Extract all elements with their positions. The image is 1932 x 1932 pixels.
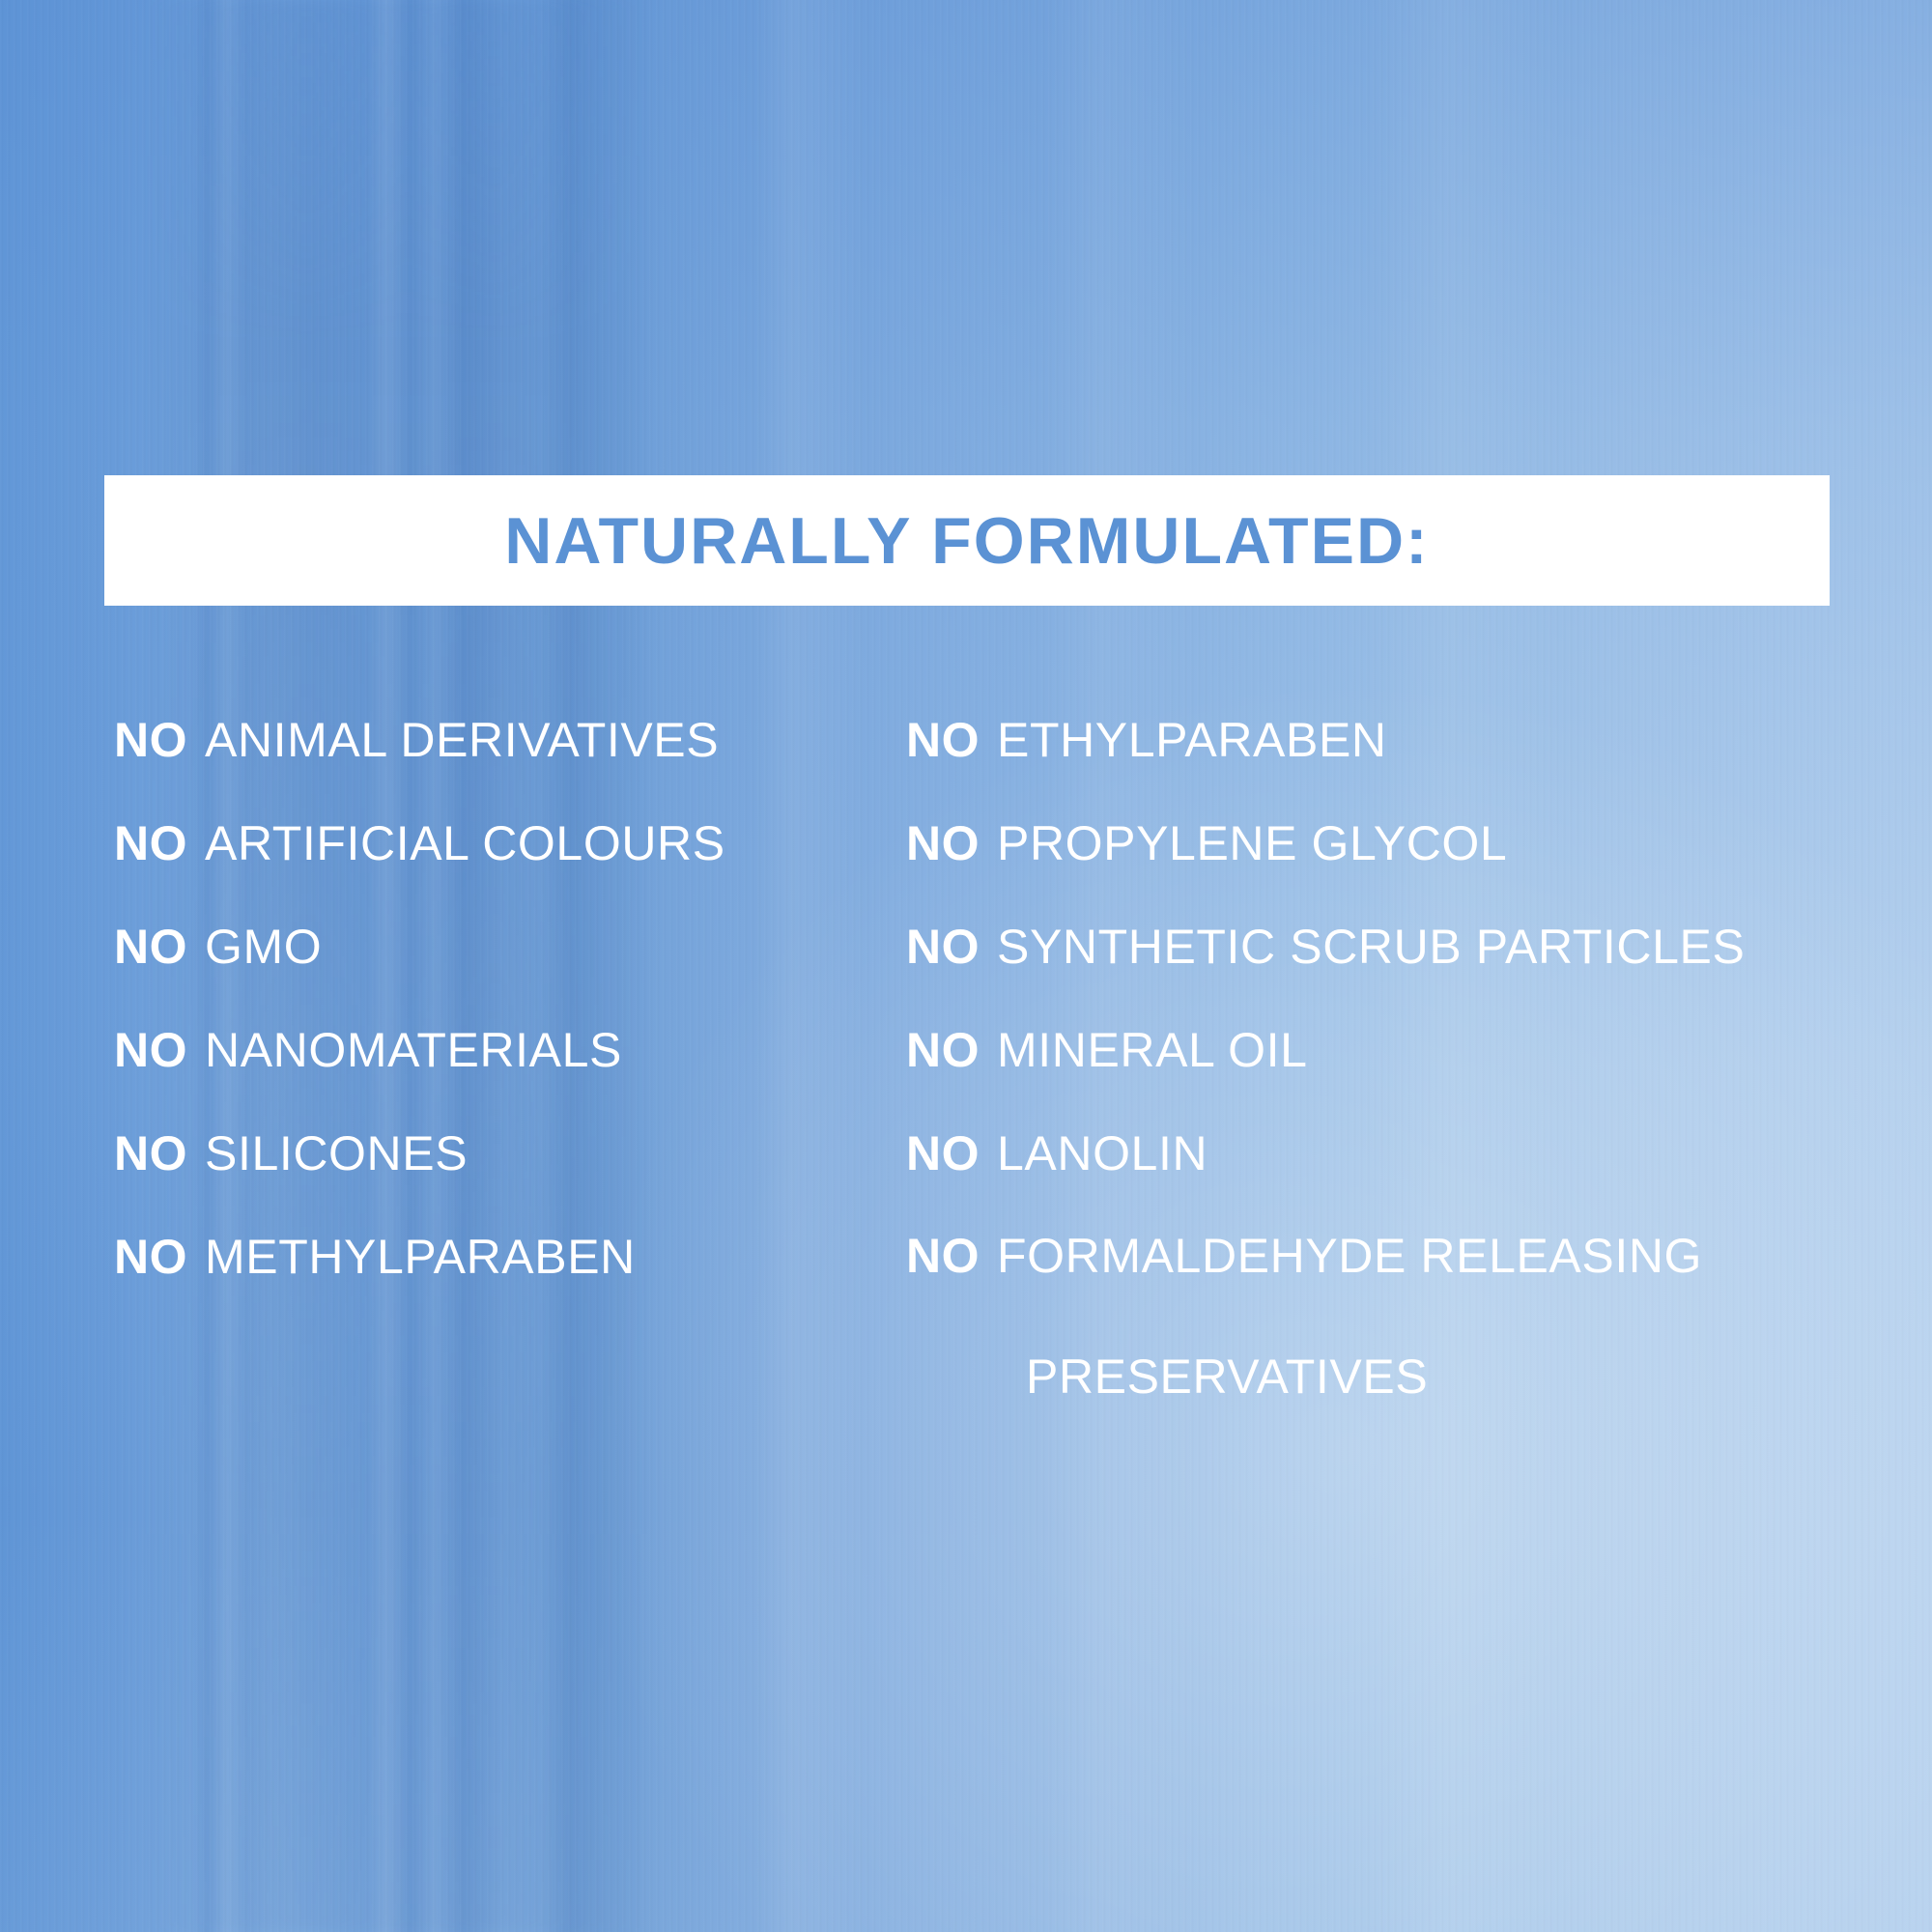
claim-text: SILICONES bbox=[205, 1128, 468, 1179]
claim-text: MINERAL OIL bbox=[997, 1025, 1308, 1076]
title-banner: NATURALLY FORMULATED: bbox=[104, 475, 1830, 606]
claim-item: NO GMO bbox=[114, 895, 906, 999]
claim-prefix: NO bbox=[906, 1025, 980, 1076]
claim-item: NO METHYLPARABEN bbox=[114, 1206, 906, 1309]
claim-prefix: NO bbox=[114, 1232, 187, 1283]
claim-prefix: NO bbox=[114, 818, 187, 869]
claim-text: PROPYLENE GLYCOL bbox=[997, 818, 1507, 869]
claim-text: SYNTHETIC SCRUB PARTICLES bbox=[997, 922, 1745, 973]
claim-item: NO FORMALDEHYDE RELEASING PRESERVATIVES bbox=[906, 1206, 1833, 1437]
claim-prefix: NO bbox=[114, 922, 187, 973]
claim-text: ANIMAL DERIVATIVES bbox=[205, 715, 719, 766]
claims-column-right: NO ETHYLPARABEN NO PROPYLENE GLYCOL NO S… bbox=[906, 689, 1872, 1437]
claims-column-left: NO ANIMAL DERIVATIVES NO ARTIFICIAL COLO… bbox=[114, 689, 906, 1437]
product-claims-poster: NATURALLY FORMULATED: NO ANIMAL DERIVATI… bbox=[0, 0, 1932, 1932]
page-title: NATURALLY FORMULATED: bbox=[504, 508, 1429, 574]
claim-item: NO NANOMATERIALS bbox=[114, 999, 906, 1102]
claim-item: NO ETHYLPARABEN bbox=[906, 689, 1872, 792]
claim-item: NO MINERAL OIL bbox=[906, 999, 1872, 1102]
claim-item: NO SILICONES bbox=[114, 1102, 906, 1206]
claim-text: ETHYLPARABEN bbox=[997, 715, 1387, 766]
claim-text: LANOLIN bbox=[997, 1128, 1207, 1179]
claim-item: NO LANOLIN bbox=[906, 1102, 1872, 1206]
claim-text: FORMALDEHYDE RELEASING bbox=[997, 1231, 1702, 1282]
claim-item: NO ANIMAL DERIVATIVES bbox=[114, 689, 906, 792]
claim-text: GMO bbox=[205, 922, 322, 973]
claim-item: NO SYNTHETIC SCRUB PARTICLES bbox=[906, 895, 1872, 999]
claim-item: NO PROPYLENE GLYCOL bbox=[906, 792, 1872, 895]
claim-text-second-line: PRESERVATIVES bbox=[906, 1351, 1833, 1403]
claim-item: NO ARTIFICIAL COLOURS bbox=[114, 792, 906, 895]
claim-prefix: NO bbox=[114, 1128, 187, 1179]
claim-prefix: NO bbox=[114, 1025, 187, 1076]
claim-prefix: NO bbox=[114, 715, 187, 766]
claims-columns: NO ANIMAL DERIVATIVES NO ARTIFICIAL COLO… bbox=[0, 689, 1932, 1437]
claim-prefix: NO bbox=[906, 818, 980, 869]
claim-text: METHYLPARABEN bbox=[205, 1232, 636, 1283]
claim-prefix: NO bbox=[906, 715, 980, 766]
claim-prefix: NO bbox=[906, 922, 980, 973]
claim-prefix: NO bbox=[906, 1231, 980, 1282]
claim-prefix: NO bbox=[906, 1128, 980, 1179]
claim-text: ARTIFICIAL COLOURS bbox=[205, 818, 725, 869]
claim-text: NANOMATERIALS bbox=[205, 1025, 622, 1076]
